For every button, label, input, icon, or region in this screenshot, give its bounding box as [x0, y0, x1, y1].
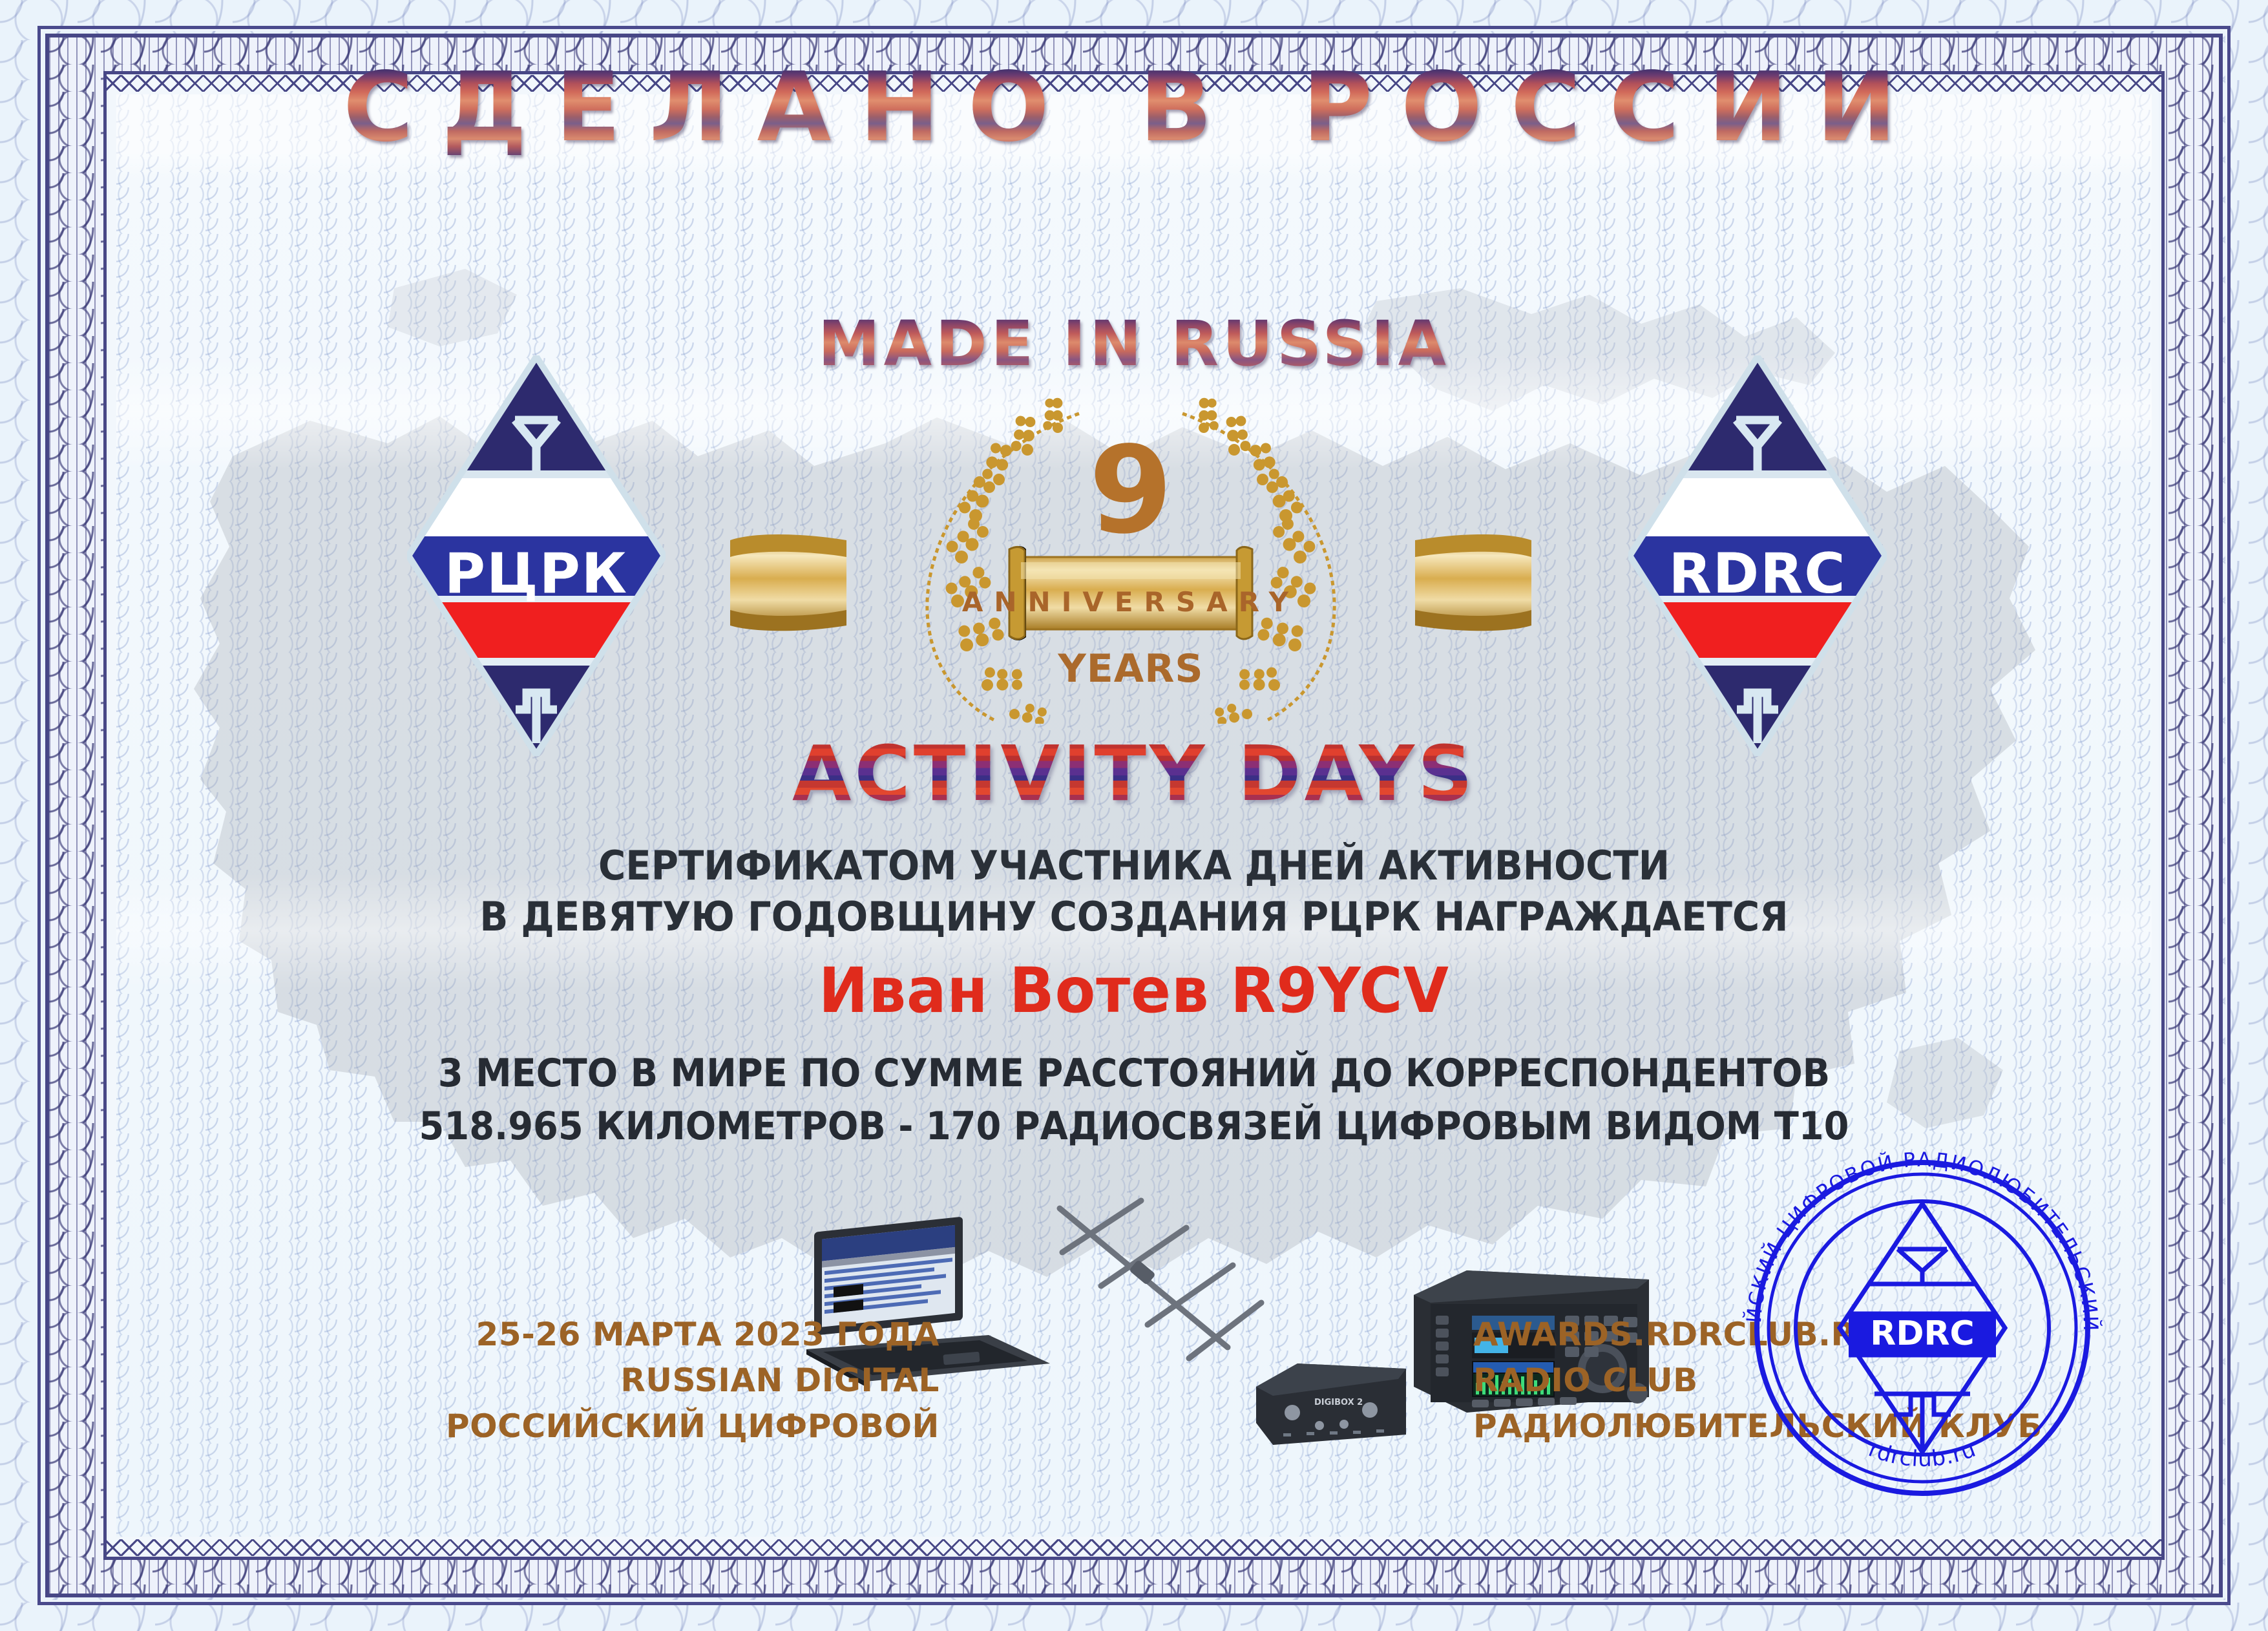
event-title: ACTIVITY DAYS — [792, 729, 1476, 818]
anniversary-years-label: YEARS — [717, 646, 1544, 691]
anniversary-wreath-emblem: 9 ANNIVERSARY YEARS — [717, 388, 1544, 724]
footer-org-name-ru: РОССИЙСКИЙ ЦИФРОВОЙ — [446, 1404, 940, 1449]
anniversary-number: 9 — [717, 430, 1544, 551]
interface-box-label: DIGIBOX 2 — [1314, 1398, 1363, 1407]
seal-center-label: RDRC — [1870, 1314, 1974, 1353]
recipient-name: Иван Вотев R9YCV — [57, 957, 2212, 1026]
footer-left-block: 25-26 МАРТА 2023 ГОДА RUSSIAN DIGITAL РО… — [446, 1312, 940, 1449]
headline-russian-container: СДЕЛАНО В РОССИИ — [0, 59, 2268, 155]
footer-org-name-en: RUSSIAN DIGITAL — [446, 1358, 940, 1404]
zigzag-ornament-bottom — [103, 1539, 2165, 1556]
rdrc-club-logo: RDRC — [1628, 355, 1887, 756]
rcrk-club-logo: РЦРК — [407, 355, 666, 756]
certificate-page: СДЕЛАНО В РОССИИ MADE IN RUSSIA — [0, 0, 2268, 1631]
headline-english-container: MADE IN RUSSIA — [0, 308, 2268, 380]
achievement-line-1: 3 МЕСТО В МИРЕ ПО СУММЕ РАССТОЯНИЙ ДО КО… — [79, 1048, 2189, 1099]
yagi-antenna-icon — [1034, 1189, 1279, 1376]
page-title-english: MADE IN RUSSIA — [818, 308, 1450, 380]
rdrc-official-seal: РОССИЙСКИЙ ЦИФРОВОЙ РАДИОЛЮБИТЕЛЬСКИЙ КЛ… — [1722, 1128, 2123, 1528]
award-line-1: СЕРТИФИКАТОМ УЧАСТНИКА ДНЕЙ АКТИВНОСТИ — [79, 840, 2189, 891]
page-title-russian: СДЕЛАНО В РОССИИ — [343, 59, 1925, 155]
footer-event-dates: 25-26 МАРТА 2023 ГОДА — [446, 1312, 940, 1358]
anniversary-ribbon-label: ANNIVERSARY — [717, 586, 1544, 618]
certificate-body: СЕРТИФИКАТОМ УЧАСТНИКА ДНЕЙ АКТИВНОСТИ В… — [0, 840, 2268, 1152]
digital-interface-box-icon: DIGIBOX 2 — [1247, 1351, 1415, 1454]
award-line-2: В ДЕВЯТУЮ ГОДОВЩИНУ СОЗДАНИЯ РЦРК НАГРАЖ… — [79, 891, 2189, 942]
event-title-container: ACTIVITY DAYS — [0, 729, 2268, 818]
